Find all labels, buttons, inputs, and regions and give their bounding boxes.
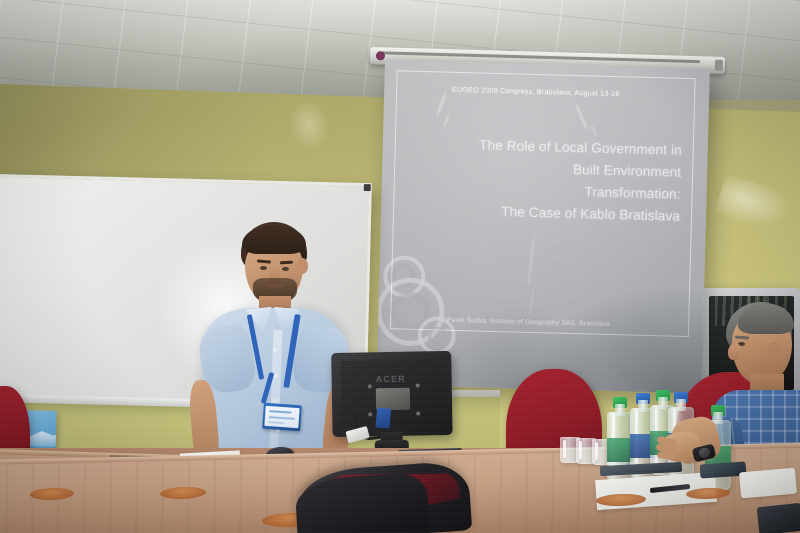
- monitor-screw: [368, 384, 372, 388]
- badge-insert: [264, 406, 299, 428]
- projection-screen: EUGEO 2009 Congress, Bratislava, August …: [376, 60, 709, 393]
- monitor-screw: [416, 412, 420, 416]
- watch-face: [698, 447, 711, 459]
- whiteboard-corner-bracket: [364, 184, 371, 191]
- roller-logo-icon: [376, 51, 385, 60]
- wall-scuff-right: [713, 175, 800, 241]
- roller-endcap: [715, 60, 723, 71]
- shirt-button: [273, 348, 277, 352]
- monitor-brand-label: ACER: [376, 374, 410, 385]
- wall-scuff-left: [282, 92, 336, 158]
- presenter-hair-front: [242, 226, 306, 254]
- acer-monitor-rear: ACER: [331, 351, 453, 449]
- photograph-scene: EUGEO 2009 Congress, Bratislava, August …: [0, 0, 800, 533]
- shirt-button: [274, 374, 278, 378]
- presenter-mouth: [267, 284, 284, 287]
- badge-text-line: [269, 410, 291, 414]
- monitor-vesa-plate: [376, 388, 410, 411]
- presenter-eye: [282, 267, 289, 271]
- napkin: [739, 468, 797, 499]
- badge-text-line: [269, 421, 285, 424]
- badge-text-line: [269, 416, 295, 420]
- dark-object-corner: [757, 503, 800, 533]
- attendee-nose: [728, 344, 740, 360]
- presenter-eye: [260, 266, 267, 270]
- conference-badge: [262, 403, 302, 432]
- slide-title: The Role of Local Government in Built En…: [411, 133, 682, 228]
- attendee-finger: [657, 451, 677, 460]
- vga-connector: [375, 408, 391, 429]
- presenter-ear: [297, 258, 308, 274]
- attendee-hair-top: [738, 304, 794, 334]
- attendee-ear: [768, 342, 780, 358]
- monitor-screw: [416, 384, 420, 388]
